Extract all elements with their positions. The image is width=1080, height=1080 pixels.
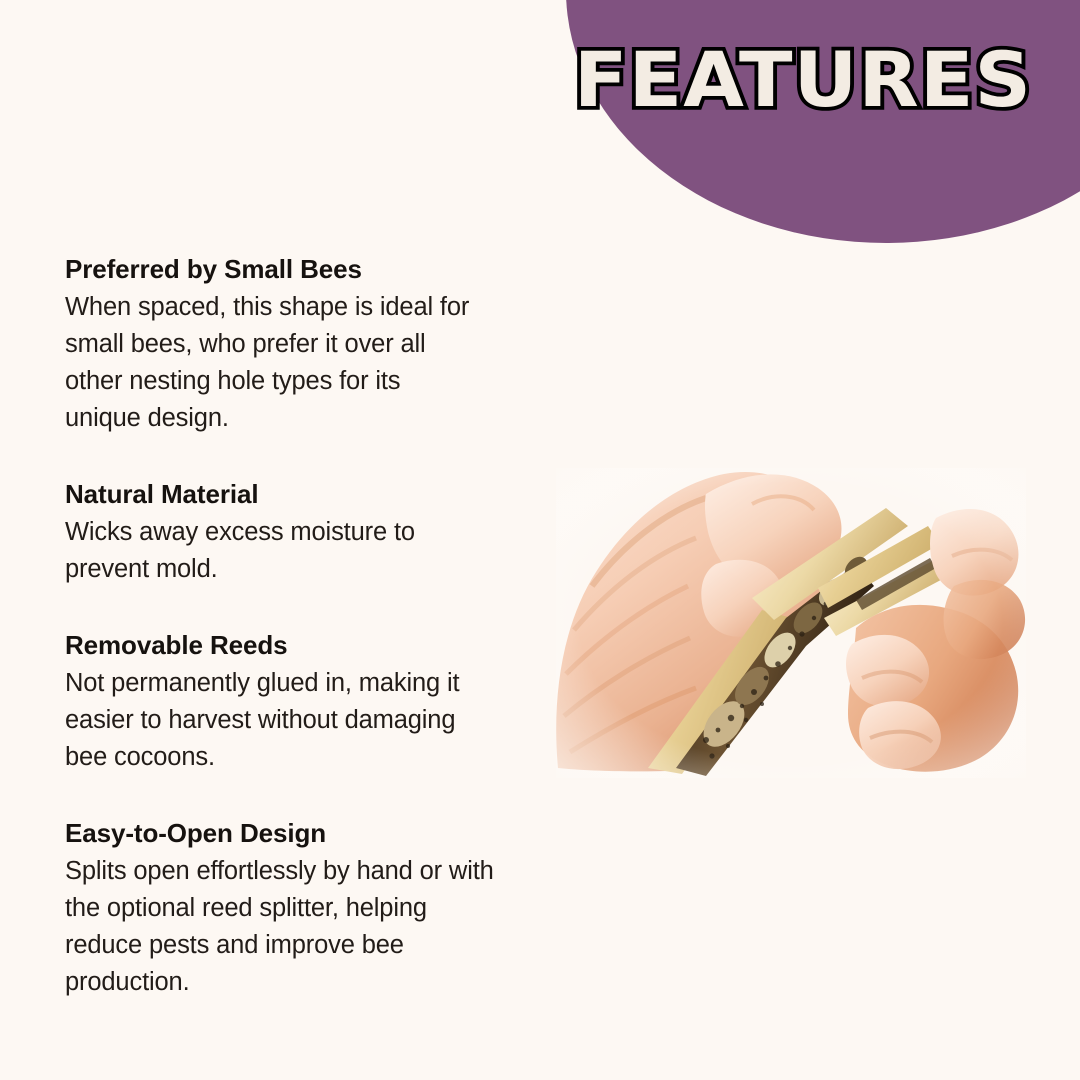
feature-title: Natural Material (65, 477, 565, 511)
feature-body-line: small bees, who prefer it over all (65, 326, 565, 363)
feature-body-line: When spaced, this shape is ideal for (65, 289, 565, 326)
feature-body: Splits open effortlessly by hand or with… (65, 853, 565, 1001)
feature-item: Preferred by Small Bees When spaced, thi… (65, 252, 565, 437)
feature-body-line: the optional reed splitter, helping (65, 890, 565, 927)
feature-body-line: production. (65, 964, 565, 1001)
feature-title: Preferred by Small Bees (65, 252, 565, 286)
feature-body-line: other nesting hole types for its (65, 363, 565, 400)
feature-body-line: unique design. (65, 400, 565, 437)
feature-body-line: Splits open effortlessly by hand or with (65, 853, 565, 890)
feature-body-line: easier to harvest without damaging (65, 702, 565, 739)
hands-splitting-reed-illustration (556, 468, 1026, 778)
product-photo (556, 468, 1026, 778)
feature-title: Removable Reeds (65, 628, 565, 662)
feature-body-line: bee cocoons. (65, 739, 565, 776)
feature-body-line: prevent mold. (65, 551, 565, 588)
features-poster: FEATURES Preferred by Small Bees When sp… (0, 0, 1080, 1080)
feature-item: Natural Material Wicks away excess moist… (65, 477, 565, 588)
feature-title: Easy-to-Open Design (65, 816, 565, 850)
page-title: FEATURES (574, 42, 1032, 118)
feature-body: When spaced, this shape is ideal for sma… (65, 289, 565, 437)
feature-body-line: reduce pests and improve bee (65, 927, 565, 964)
page-title-container: FEATURES (620, 38, 1060, 122)
feature-list: Preferred by Small Bees When spaced, thi… (65, 252, 565, 1001)
feature-body-line: Wicks away excess moisture to (65, 514, 565, 551)
feature-body: Not permanently glued in, making it easi… (65, 665, 565, 776)
feature-item: Easy-to-Open Design Splits open effortle… (65, 816, 565, 1001)
feature-body-line: Not permanently glued in, making it (65, 665, 565, 702)
feature-body: Wicks away excess moisture to prevent mo… (65, 514, 565, 588)
feature-item: Removable Reeds Not permanently glued in… (65, 628, 565, 776)
